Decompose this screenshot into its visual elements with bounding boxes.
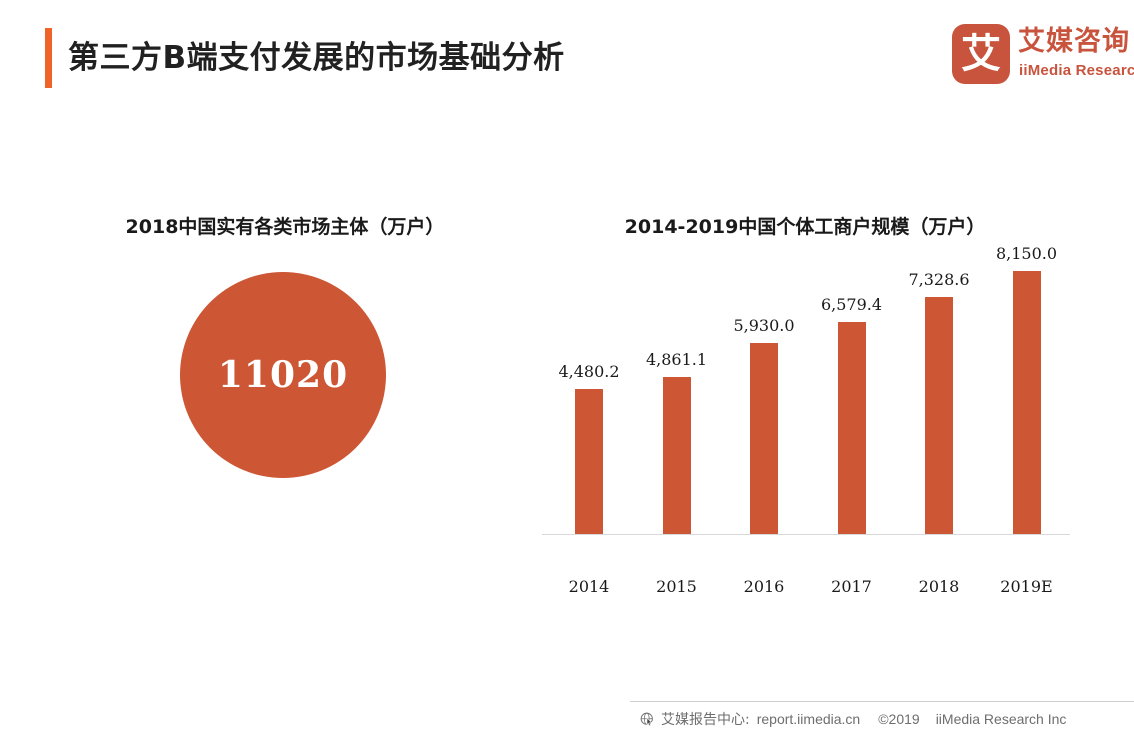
bar-slot: 6,579.4 <box>808 250 896 534</box>
footer-label-cn: 艾媒报告中心: <box>661 709 750 729</box>
market-entities-bubble-chart: 2018中国实有各类市场主体（万户） 11020 <box>80 212 490 512</box>
footer-copyright: ©2019 <box>878 711 919 727</box>
page-title: 第三方B端支付发展的市场基础分析 <box>68 30 565 86</box>
globe-icon <box>640 712 655 727</box>
self-employed-scale-bar-chart: 2014-2019中国个体工商户规模（万户） 4,480.24,861.15,9… <box>540 212 1070 572</box>
bar-value-label: 7,328.6 <box>908 270 969 289</box>
page-header: 第三方B端支付发展的市场基础分析 艾 艾媒咨询 iiMedia Research <box>0 0 1134 110</box>
bar[interactable] <box>663 377 691 534</box>
bar[interactable] <box>750 343 778 534</box>
bar-value-label: 8,150.0 <box>996 244 1057 263</box>
x-tick-2017: 2017 <box>808 577 896 596</box>
title-accent-bar <box>45 28 52 88</box>
right-chart-title: 2014-2019中国个体工商户规模（万户） <box>540 212 1070 239</box>
bar-slot: 4,861.1 <box>633 250 721 534</box>
bar[interactable] <box>1013 271 1041 534</box>
bar[interactable] <box>838 322 866 534</box>
footer-url[interactable]: report.iimedia.cn <box>757 711 861 727</box>
x-axis-line <box>542 534 1070 535</box>
bar-slot: 8,150.0 <box>983 250 1071 534</box>
x-tick-2016: 2016 <box>720 577 808 596</box>
page-footer: 艾媒报告中心: report.iimedia.cn ©2019 iiMedia … <box>0 701 1134 737</box>
bar-value-label: 6,579.4 <box>821 295 882 314</box>
logo-mark-icon: 艾 <box>952 24 1010 84</box>
iimedia-logo: 艾 艾媒咨询 iiMedia Research <box>952 24 1124 88</box>
left-chart-title: 2018中国实有各类市场主体（万户） <box>80 212 490 239</box>
x-tick-2018: 2018 <box>895 577 983 596</box>
bar[interactable] <box>575 389 603 534</box>
x-tick-2015: 2015 <box>633 577 721 596</box>
logo-name-cn: 艾媒咨询 <box>1018 26 1130 58</box>
bar-plot-area: 4,480.24,861.15,930.06,579.47,328.68,150… <box>542 250 1070 535</box>
bar-value-label: 4,861.1 <box>646 350 707 369</box>
bubble-shape: 11020 <box>180 272 386 478</box>
bar-slot: 7,328.6 <box>895 250 983 534</box>
bar-value-label: 4,480.2 <box>558 362 619 381</box>
bar-slot: 4,480.2 <box>545 250 633 534</box>
logo-name-en: iiMedia Research <box>1019 62 1134 79</box>
footer-company: iiMedia Research Inc <box>936 711 1067 727</box>
bar-value-label: 5,930.0 <box>733 316 794 335</box>
bar-slot: 5,930.0 <box>720 250 808 534</box>
x-tick-2019E: 2019E <box>983 577 1071 596</box>
bar[interactable] <box>925 297 953 534</box>
x-tick-2014: 2014 <box>545 577 633 596</box>
footer-divider <box>630 701 1134 702</box>
footer-content: 艾媒报告中心: report.iimedia.cn ©2019 iiMedia … <box>640 709 1066 729</box>
bubble-value-label: 11020 <box>218 354 348 396</box>
